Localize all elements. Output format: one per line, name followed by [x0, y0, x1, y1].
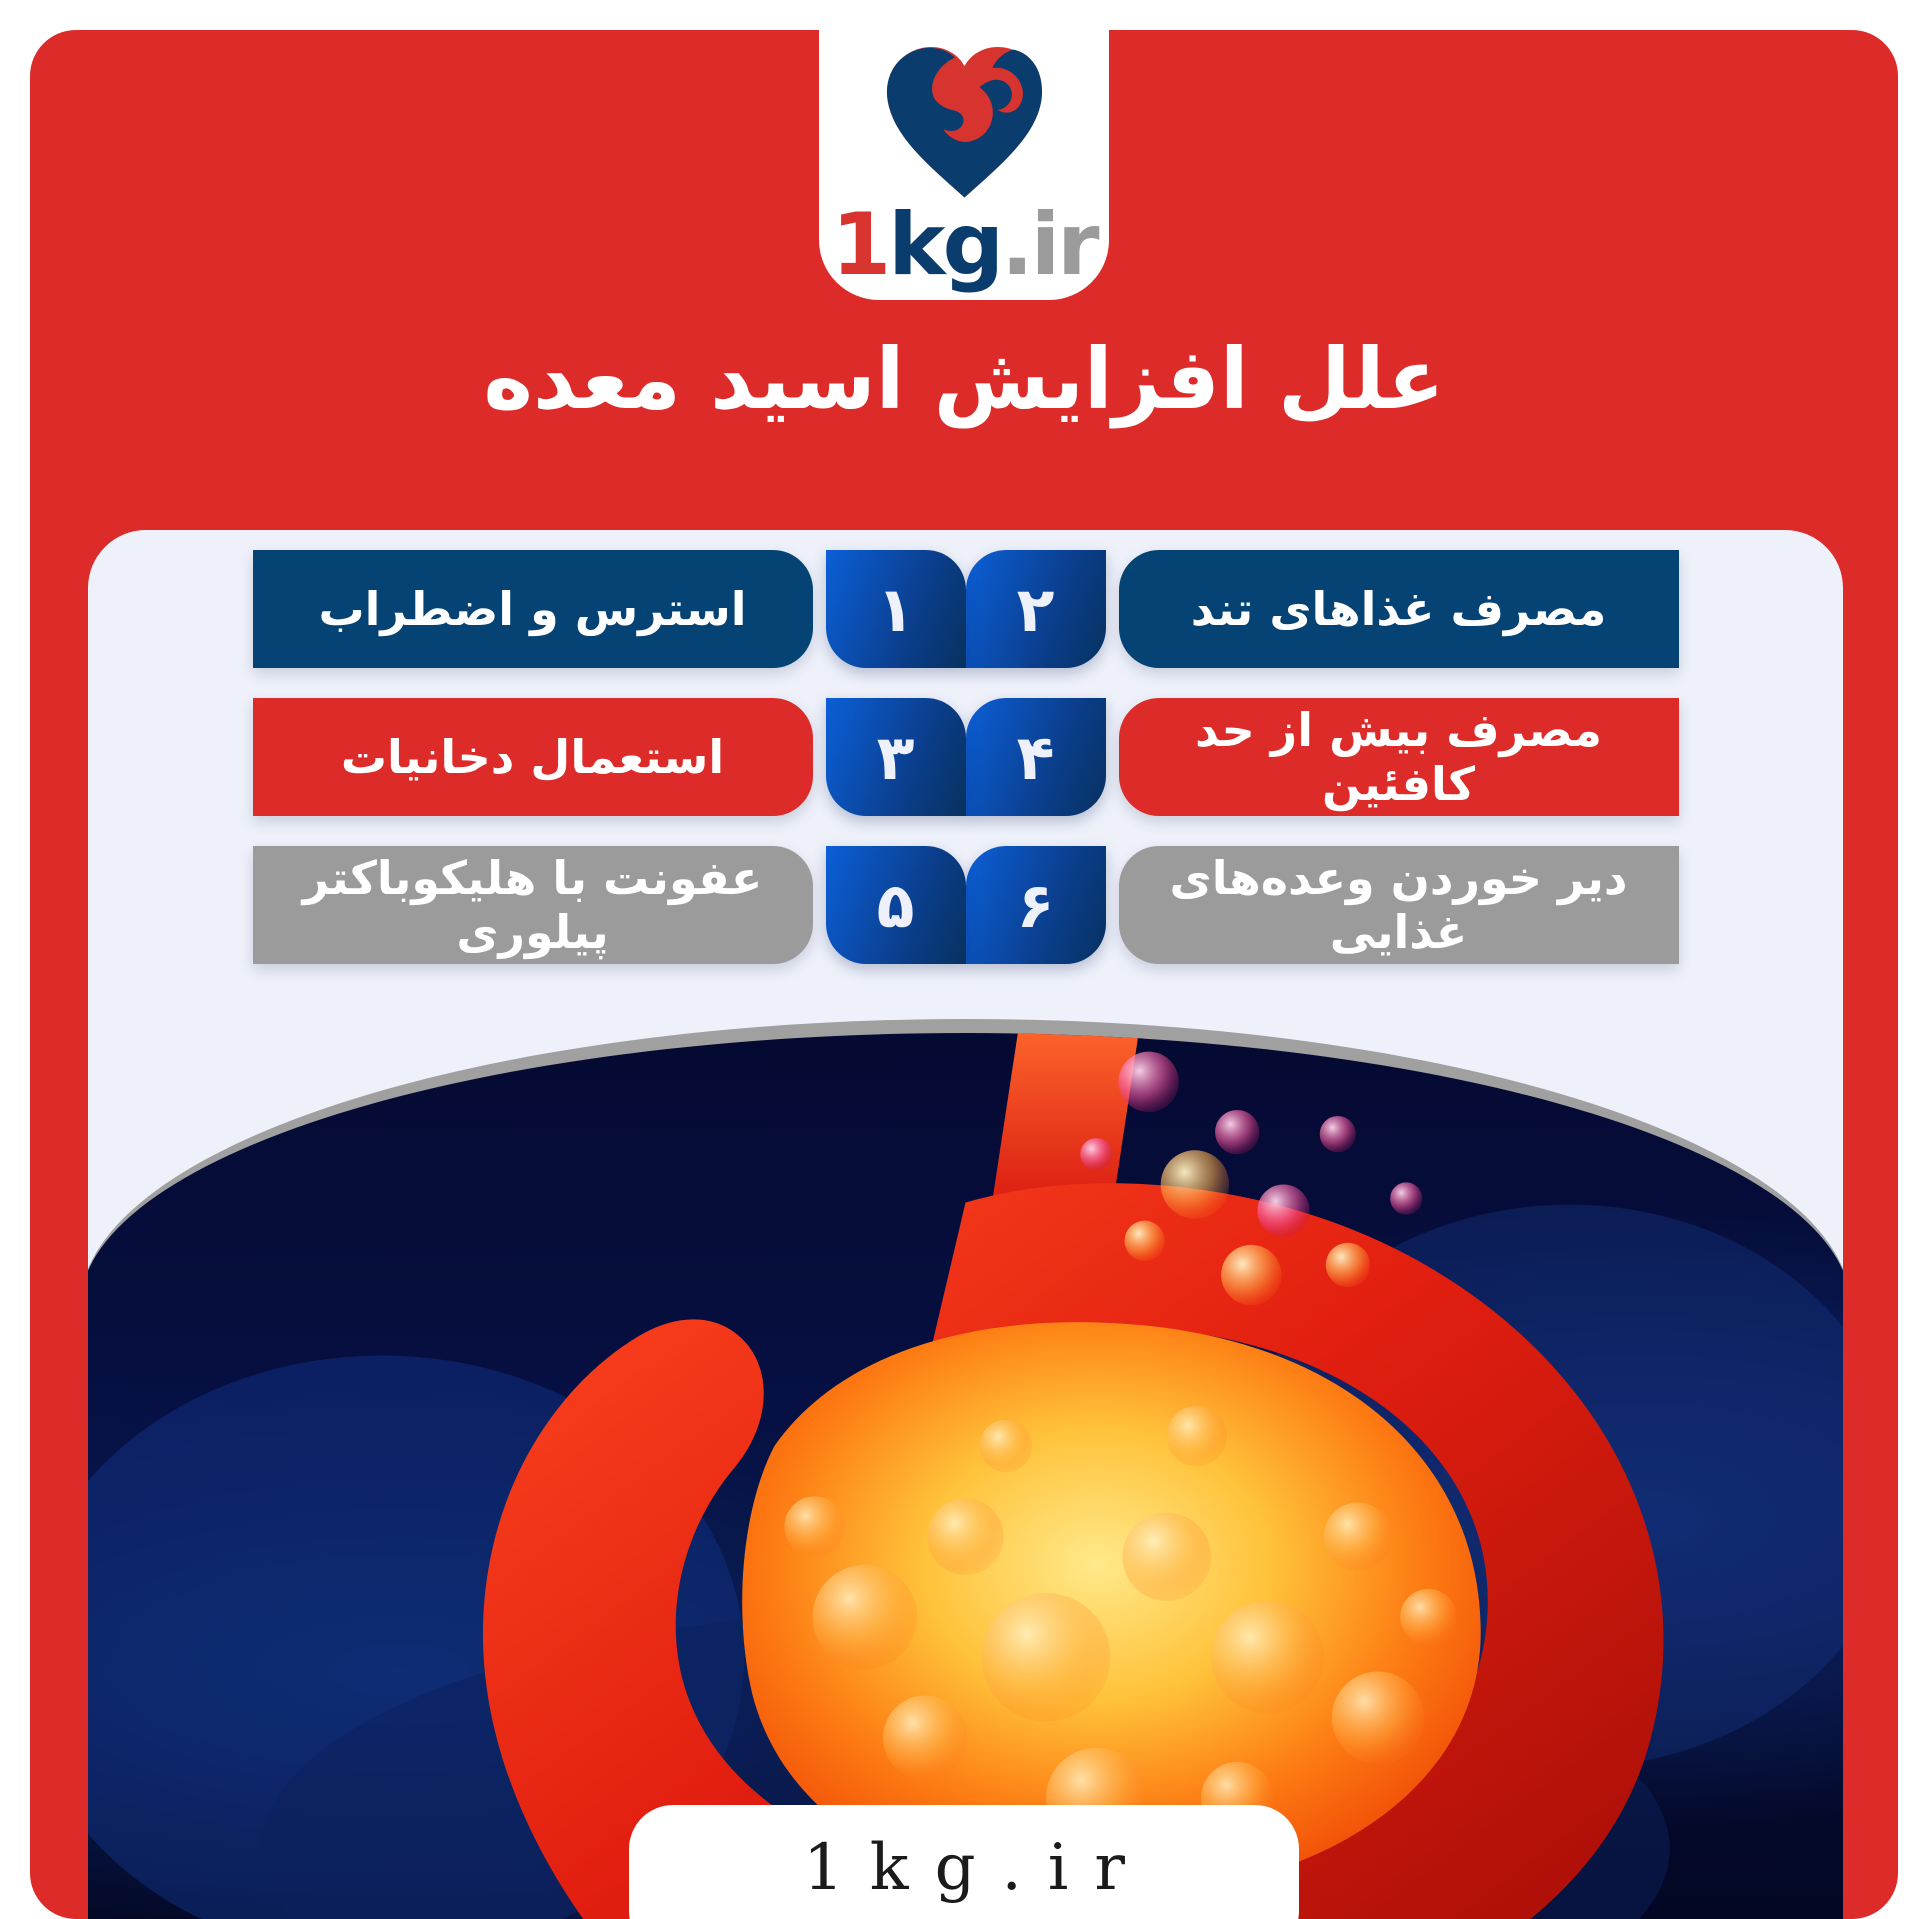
list-item-number: ۲: [1017, 573, 1055, 646]
list-item-label: مصرف بیش از حد کافئین: [1143, 703, 1655, 811]
logo-text-kg: kg: [888, 195, 1001, 295]
causes-list: استرس و اضطراب ۱ ۲ مصرف غذاهای تند استعم…: [88, 550, 1843, 964]
footer-site-badge: 1kg.ir: [629, 1805, 1299, 1919]
list-item-label: استعمال دخانیات: [341, 730, 724, 784]
logo-text-ir: ir: [1031, 195, 1097, 295]
list-item[interactable]: مصرف غذاهای تند: [1119, 550, 1679, 668]
list-item-number-badge: ۲: [966, 550, 1106, 668]
list-item-label: عفونت با هلیکوباکتر پیلوری: [277, 851, 789, 959]
list-row: استعمال دخانیات ۳ ۴ مصرف بیش از حد کافئی…: [120, 698, 1811, 816]
list-item-number-badge: ۱: [826, 550, 966, 668]
logo-wordmark: 1kg.ir: [831, 202, 1096, 288]
list-item[interactable]: استعمال دخانیات: [253, 698, 813, 816]
list-item-number: ۵: [877, 869, 915, 942]
list-item-label: استرس و اضطراب: [318, 582, 746, 636]
list-item-label: دیر خوردن وعده‌های غذایی: [1143, 851, 1655, 959]
list-item[interactable]: عفونت با هلیکوباکتر پیلوری: [253, 846, 813, 964]
list-item-number: ۶: [1017, 869, 1055, 942]
list-item[interactable]: مصرف بیش از حد کافئین: [1119, 698, 1679, 816]
list-item-number: ۱: [877, 573, 915, 646]
list-item-number-badge: ۴: [966, 698, 1106, 816]
list-item-label: مصرف غذاهای تند: [1191, 582, 1607, 636]
logo-text-1: 1: [831, 195, 888, 295]
heart-with-flexed-arm-icon: [877, 33, 1052, 208]
list-row: عفونت با هلیکوباکتر پیلوری ۵ ۶ دیر خوردن…: [120, 846, 1811, 964]
list-item-number: ۴: [1017, 721, 1055, 794]
list-item-number-badge: ۳: [826, 698, 966, 816]
list-item-number-badge: ۵: [826, 846, 966, 964]
stomach-graphic: [88, 1033, 1843, 1919]
footer-site-text: 1kg.ir: [777, 1831, 1151, 1905]
list-item[interactable]: دیر خوردن وعده‌های غذایی: [1119, 846, 1679, 964]
page-title: علل افزایش اسید معده: [30, 330, 1898, 428]
stomach-acid-illustration: [88, 1019, 1843, 1919]
list-item-number: ۳: [877, 721, 915, 794]
brand-logo: 1kg.ir: [819, 30, 1109, 300]
illustration-wrapper: [88, 1019, 1843, 1919]
list-item-number-badge: ۶: [966, 846, 1106, 964]
logo-text-dot: .: [1001, 195, 1031, 295]
poster-background: 1kg.ir علل افزایش اسید معده استرس و اضطر…: [30, 30, 1898, 1919]
content-card: استرس و اضطراب ۱ ۲ مصرف غذاهای تند استعم…: [88, 530, 1843, 1919]
list-item[interactable]: استرس و اضطراب: [253, 550, 813, 668]
list-row: استرس و اضطراب ۱ ۲ مصرف غذاهای تند: [120, 550, 1811, 668]
